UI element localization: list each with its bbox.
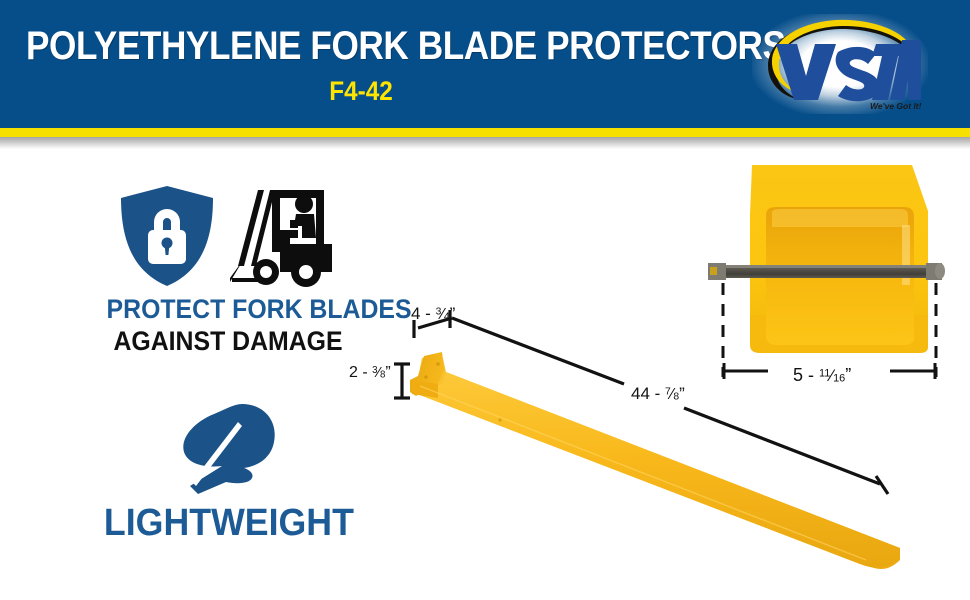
end-cavity-highlight <box>772 209 908 227</box>
product-hole <box>436 362 440 366</box>
bar-end-right-cap <box>935 263 945 279</box>
product-hole <box>424 375 428 379</box>
inch-mark: ” <box>679 384 685 403</box>
dimension-length-fraction: 7⁄8 <box>665 386 679 403</box>
logo-artwork: We've Got It! <box>752 14 928 114</box>
feature-protect-line2: AGAINST DAMAGE <box>107 326 350 356</box>
product-photo-end-view <box>690 165 960 395</box>
bar-end-left-nut <box>710 267 717 275</box>
dimension-width-whole: 4 - <box>411 304 436 323</box>
dimension-length-whole: 44 - <box>631 384 665 403</box>
inch-mark: ” <box>845 365 851 385</box>
dimension-label-height: 2 - 3⁄8” <box>349 364 391 382</box>
shield-lock-icon <box>118 184 216 288</box>
header-shadow <box>0 137 970 149</box>
dimension-width-fraction: 3⁄4 <box>436 306 450 323</box>
logo-tagline-text: We've Got It! <box>870 101 922 111</box>
dimension-height-whole: 2 - <box>349 364 372 381</box>
page-header: POLYETHYLENE FORK BLADE PROTECTORS F4-42 <box>0 0 970 128</box>
retaining-bar-highlight <box>712 265 938 268</box>
infographic-page: POLYETHYLENE FORK BLADE PROTECTORS F4-42 <box>0 0 970 600</box>
inch-mark: ” <box>385 364 390 381</box>
dimension-label-depth: 5 - 11⁄16” <box>793 365 851 386</box>
feature-protect-line1: PROTECT FORK BLADES <box>107 294 350 324</box>
dimension-label-width: 4 - 3⁄4” <box>411 304 455 324</box>
product-hole <box>498 418 501 421</box>
logo-wordmark <box>776 40 921 101</box>
feather-icon <box>170 402 282 498</box>
dimension-label-length: 44 - 7⁄8” <box>631 384 685 404</box>
product-end-svg <box>690 165 960 395</box>
feature-lightweight-label: LIGHTWEIGHT <box>104 502 352 544</box>
page-title: POLYETHYLENE FORK BLADE PROTECTORS <box>26 24 642 68</box>
dimension-height-fraction: 3⁄8 <box>372 365 385 381</box>
forklift-icon <box>228 186 340 288</box>
inch-mark: ” <box>450 304 456 323</box>
dimension-depth-whole: 5 - <box>793 365 819 385</box>
dimension-depth-fraction: 11⁄16 <box>819 366 845 385</box>
feature-protect-icons <box>96 182 360 290</box>
vestil-logo: We've Got It! <box>752 14 928 114</box>
product-crease <box>420 386 866 560</box>
model-number: F4-42 <box>60 76 663 107</box>
header-accent-bar <box>0 128 970 137</box>
